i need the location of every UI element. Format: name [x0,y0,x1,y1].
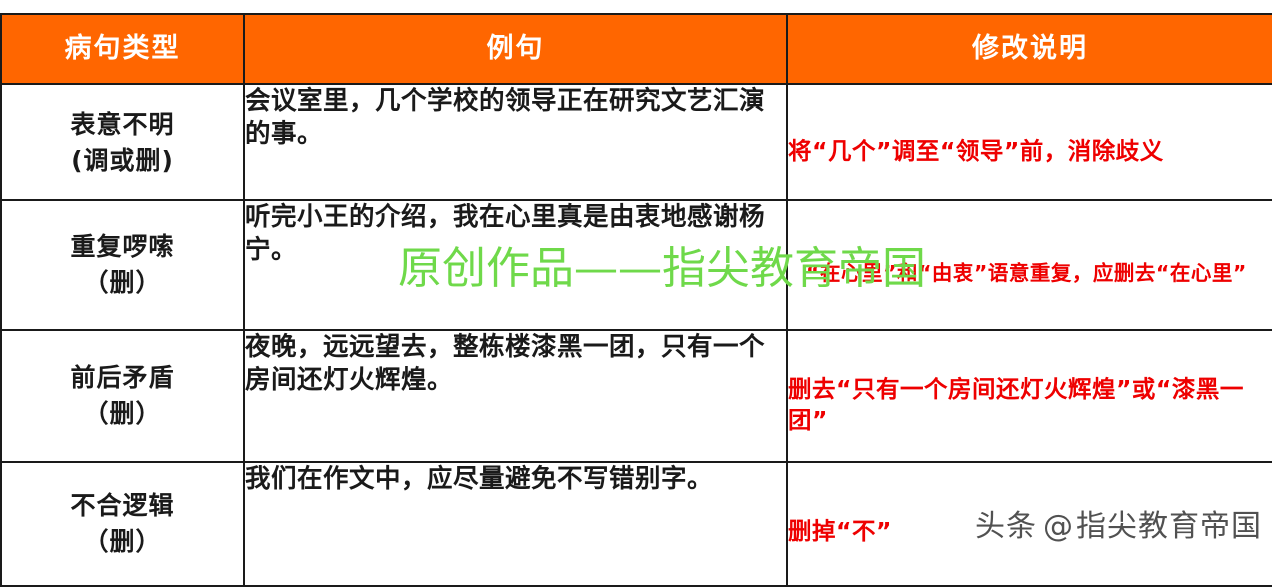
cell-error-type: 前后矛盾 （删） [1,330,244,462]
cell-error-type: 重复啰嗦 （删） [1,200,244,330]
cell-example-sentence: 夜晚，远远望去，整栋楼漆黑一团，只有一个房间还灯火辉煌。 [244,330,787,462]
cell-example-sentence: 会议室里，几个学校的领导正在研究文艺汇演的事。 [244,84,787,200]
table-header-row: 病句类型 例句 修改说明 [1,14,1272,84]
error-type-method: （删） [2,265,243,301]
col-header-example: 例句 [244,14,787,84]
error-type-method: （删） [2,396,243,432]
error-type-name: 表意不明 [2,107,243,143]
watermark-brand-label: 头条 [975,509,1037,544]
cell-fix-explanation: 将“几个”调至“领导”前，消除歧义 [787,84,1272,200]
col-header-type: 病句类型 [1,14,244,84]
watermark-at-icon: @ [1043,509,1074,544]
table-row: 前后矛盾 （删） 夜晚，远远望去，整栋楼漆黑一团，只有一个房间还灯火辉煌。 删去… [1,330,1272,462]
table-row: 重复啰嗦 （删） 听完小王的介绍，我在心里真是由衷地感谢杨宁。 “在心里”和“由… [1,200,1272,330]
col-header-type-label: 病句类型 [2,34,243,64]
error-type-method: (调或删) [2,143,243,179]
error-type-name: 不合逻辑 [2,488,243,524]
cell-example-sentence: 我们在作文中，应尽量避免不写错别字。 [244,462,787,586]
col-header-fix-label: 修改说明 [788,34,1272,64]
watermark-account-label: 指尖教育帝国 [1076,509,1262,544]
cell-error-type: 表意不明 (调或删) [1,84,244,200]
table-row: 表意不明 (调或删) 会议室里，几个学校的领导正在研究文艺汇演的事。 将“几个”… [1,84,1272,200]
error-type-method: （删） [2,524,243,560]
cell-example-sentence: 听完小王的介绍，我在心里真是由衷地感谢杨宁。 [244,200,787,330]
watermark-corner: 头条@指尖教育帝国 [975,512,1262,542]
cell-fix-explanation: “在心里”和“由衷”语意重复，应删去“在心里” [787,200,1272,330]
page-canvas: 病句类型 例句 修改说明 表意不明 (调或删) 会议室里，几个 [0,0,1272,550]
error-type-name: 重复啰嗦 [2,229,243,265]
cell-fix-explanation: 删去“只有一个房间还灯火辉煌”或“漆黑一团” [787,330,1272,462]
table-header: 病句类型 例句 修改说明 [1,14,1272,84]
col-header-fix: 修改说明 [787,14,1272,84]
grammar-error-table: 病句类型 例句 修改说明 表意不明 (调或删) 会议室里，几个 [0,13,1272,587]
cell-error-type: 不合逻辑 （删） [1,462,244,586]
grammar-table-container: 病句类型 例句 修改说明 表意不明 (调或删) 会议室里，几个 [0,13,1272,587]
col-header-example-label: 例句 [245,34,786,64]
error-type-name: 前后矛盾 [2,360,243,396]
